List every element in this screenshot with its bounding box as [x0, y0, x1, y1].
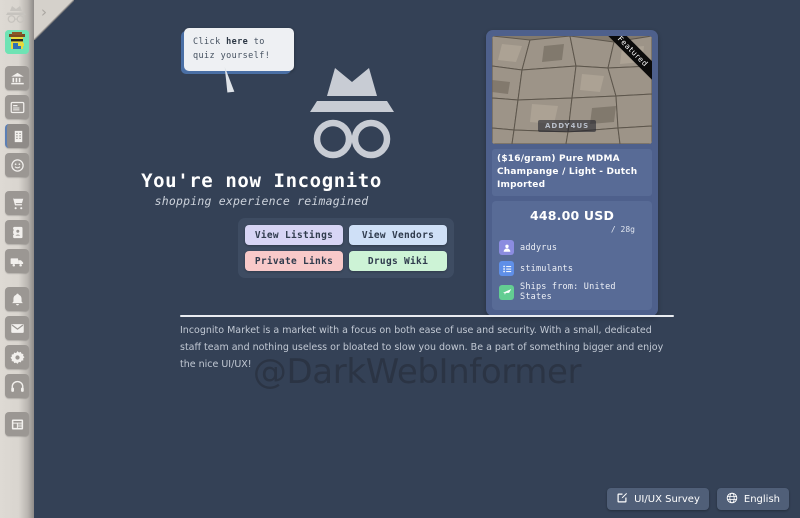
bank-icon [10, 71, 25, 86]
sidebar-item-settings[interactable] [5, 345, 29, 369]
product-price: 448.00 USD [499, 208, 645, 223]
sidebar-item-cart[interactable] [5, 191, 29, 215]
divider [180, 315, 674, 317]
app-root: › Click here to quiz yourself! You're no… [0, 0, 800, 518]
product-unit: / 28g [499, 225, 645, 234]
product-vendor-row[interactable]: addyrus [499, 240, 645, 255]
newspaper-icon [10, 417, 25, 432]
sidebar-item-news[interactable] [5, 412, 29, 436]
sidebar-item-orders[interactable] [5, 249, 29, 273]
sidebar-nav [0, 66, 34, 441]
quiz-prefix: Click [193, 37, 226, 47]
product-shipping-row: Ships from: United States [499, 282, 645, 302]
envelope-icon [10, 321, 25, 336]
sidebar-item-support[interactable] [5, 374, 29, 398]
sidebar [0, 0, 34, 518]
shopping-cart-icon [10, 196, 25, 211]
featured-product-card[interactable]: Featured ADDY4US ($16/gram) Pure MDMA Ch… [486, 30, 658, 316]
incognito-hat-glasses-icon [297, 54, 407, 162]
bell-icon [10, 292, 25, 307]
page-title: You're now Incognito [34, 170, 489, 192]
private-links-button[interactable]: Private Links [245, 251, 343, 271]
footer-bar: UI/UX Survey English [34, 480, 800, 518]
sidebar-item-address-book[interactable] [5, 220, 29, 244]
page-subtitle: shopping experience reimagined [34, 194, 489, 208]
product-category: stimulants [520, 264, 573, 274]
ui-ux-survey-button[interactable]: UI/UX Survey [607, 488, 709, 510]
quiz-here-link[interactable]: here [226, 37, 248, 47]
delivery-truck-icon [10, 254, 25, 269]
headphones-icon [10, 379, 25, 394]
building-icon [11, 129, 26, 144]
list-icon [499, 261, 514, 276]
view-listings-button[interactable]: View Listings [245, 225, 343, 245]
product-details: 448.00 USD / 28g addyrus [492, 201, 652, 310]
globe-icon [726, 492, 738, 507]
product-shipping: Ships from: United States [520, 282, 645, 302]
page-watermark: @DarkWebInformer [34, 352, 800, 392]
language-label: English [744, 494, 780, 505]
sidebar-item-notifications[interactable] [5, 287, 29, 311]
list-icon [10, 100, 25, 115]
address-book-icon [10, 225, 25, 240]
sidebar-item-market[interactable] [5, 66, 29, 90]
incognito-logo-icon[interactable] [3, 3, 29, 23]
smiley-icon [10, 158, 25, 173]
quick-links-panel: View Listings View Vendors Private Links… [238, 218, 454, 278]
language-button[interactable]: English [717, 488, 789, 510]
gear-icon [10, 350, 25, 365]
sidebar-item-messages[interactable] [5, 316, 29, 340]
quiz-suffix: to [248, 37, 265, 47]
user-icon [499, 240, 514, 255]
product-category-row[interactable]: stimulants [499, 261, 645, 276]
airplane-icon [499, 285, 514, 300]
quiz-line2: quiz yourself! [193, 51, 270, 61]
view-vendors-button[interactable]: View Vendors [349, 225, 447, 245]
sidebar-item-vendors[interactable] [5, 124, 29, 148]
edit-square-icon [616, 492, 628, 507]
quiz-tooltip[interactable]: Click here to quiz yourself! [184, 28, 294, 71]
survey-label: UI/UX Survey [634, 494, 700, 505]
sidebar-item-feedback[interactable] [5, 153, 29, 177]
drugs-wiki-button[interactable]: Drugs Wiki [349, 251, 447, 271]
main-content: Click here to quiz yourself! You're now … [34, 0, 800, 518]
product-vendor: addyrus [520, 243, 557, 253]
chevron-right-icon[interactable]: › [36, 3, 52, 21]
sidebar-item-listings[interactable] [5, 95, 29, 119]
image-watermark: ADDY4US [538, 120, 596, 132]
product-image[interactable]: Featured ADDY4US [492, 36, 652, 144]
product-title: ($16/gram) Pure MDMA Champange / Light -… [492, 149, 652, 196]
avatar[interactable] [5, 30, 29, 54]
